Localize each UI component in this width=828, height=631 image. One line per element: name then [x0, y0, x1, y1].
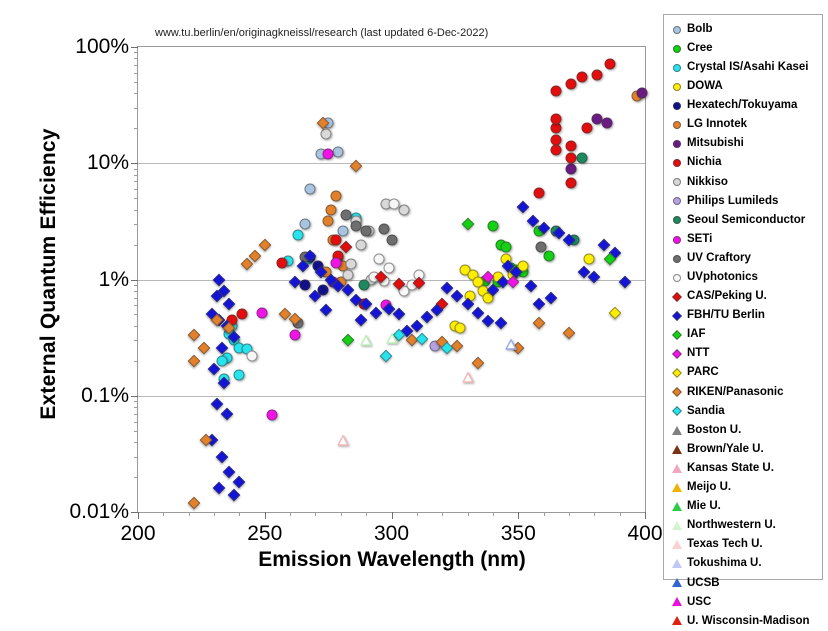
x-axis-tick-label: 350 [501, 522, 536, 546]
legend-label: Tokushima U. [687, 558, 762, 570]
y-axis-tick-label: 0.1% [81, 384, 129, 408]
data-point [330, 191, 341, 202]
y-axis-tick [131, 396, 138, 397]
legend-item-usc[interactable]: USC [670, 593, 819, 612]
legend-item-fbh-tu-berlin[interactable]: FBH/TU Berlin [670, 306, 819, 325]
data-point [581, 123, 592, 134]
y-axis-minor-tick [134, 189, 138, 190]
data-point [187, 329, 200, 342]
data-point [277, 257, 288, 268]
data-point [323, 215, 334, 226]
legend-item-brown-yale-u[interactable]: Brown/Yale U. [670, 440, 819, 459]
data-point [441, 281, 454, 294]
data-point [223, 297, 236, 310]
legend-item-crystal-is-asahi-kasei[interactable]: Crystal IS/Asahi Kasei [670, 58, 819, 77]
x-axis-tick-label: 300 [374, 522, 409, 546]
data-point [588, 271, 601, 284]
x-axis-tick-label: 200 [120, 522, 155, 546]
data-point [386, 331, 397, 349]
legend-label: USC [687, 597, 711, 609]
plot-area: 0.01%0.1%1%10%100%200250300350400 [137, 46, 646, 513]
data-point [536, 242, 547, 253]
data-point [210, 398, 223, 411]
y-axis-tick [131, 47, 138, 48]
data-point [461, 218, 474, 231]
data-point [591, 69, 602, 80]
data-point [343, 269, 354, 280]
legend-label: UCSB [687, 578, 720, 590]
legend-item-ucsb[interactable]: UCSB [670, 574, 819, 593]
data-point [378, 224, 389, 235]
data-point [300, 279, 311, 290]
legend-item-iaf[interactable]: IAF [670, 326, 819, 345]
y-axis-minor-tick [134, 477, 138, 478]
legend-marker-circle-icon [670, 214, 683, 227]
legend-item-texas-tech-u[interactable]: Texas Tech U. [670, 536, 819, 555]
legend-item-riken-panasonic[interactable]: RIKEN/Panasonic [670, 383, 819, 402]
x-axis-minor-tick [544, 512, 545, 516]
legend-marker-diamond-icon [670, 367, 683, 380]
x-axis-minor-tick [189, 512, 190, 516]
legend-label: U. Wisconsin-Madison [687, 616, 810, 628]
source-annotation: www.tu.berlin/en/originagkneissl/researc… [155, 27, 488, 39]
x-axis-tick [138, 512, 139, 519]
y-axis-minor-tick [134, 291, 138, 292]
data-point [566, 79, 577, 90]
data-point [241, 258, 254, 271]
data-point [421, 310, 434, 323]
x-axis-minor-tick [239, 512, 240, 516]
data-point [300, 219, 311, 230]
legend-marker-circle-icon [670, 271, 683, 284]
legend-item-meijo-u[interactable]: Meijo U. [670, 478, 819, 497]
legend-item-nikkiso[interactable]: Nikkiso [670, 173, 819, 192]
legend-label: Philips Lumileds [687, 196, 778, 208]
legend-marker-triangle-open-icon [670, 519, 683, 532]
y-axis-minor-tick [134, 245, 138, 246]
data-point [451, 339, 464, 352]
data-point [566, 177, 577, 188]
x-axis-minor-tick [341, 512, 342, 516]
y-axis-minor-tick [134, 305, 138, 306]
x-axis-minor-tick [366, 512, 367, 516]
data-point [598, 238, 611, 251]
y-axis-minor-tick [134, 361, 138, 362]
y-axis-minor-tick [134, 442, 138, 443]
legend-marker-triangle-icon [670, 615, 683, 628]
legend-item-kansas-state-u[interactable]: Kansas State U. [670, 459, 819, 478]
legend-item-cree[interactable]: Cree [670, 39, 819, 58]
data-point [416, 332, 429, 345]
legend-label: Brown/Yale U. [687, 444, 764, 456]
y-axis-minor-tick [134, 401, 138, 402]
y-axis-minor-tick [134, 340, 138, 341]
legend-label: IAF [687, 329, 706, 341]
data-point [608, 306, 621, 319]
data-point [471, 306, 484, 319]
legend-item-boston-u[interactable]: Boston U. [670, 421, 819, 440]
legend-label: Cree [687, 43, 713, 55]
legend-item-northwestern-u[interactable]: Northwestern U. [670, 516, 819, 535]
data-point [258, 238, 271, 251]
legend-label: PARC [687, 367, 719, 379]
legend-item-ntt[interactable]: NTT [670, 345, 819, 364]
data-point [319, 303, 332, 316]
gridline [138, 396, 645, 397]
data-point [358, 279, 369, 290]
data-point [551, 85, 562, 96]
data-point [576, 153, 587, 164]
x-axis-tick [265, 512, 266, 519]
y-axis-tick-label: 10% [87, 151, 129, 175]
data-point [305, 184, 316, 195]
data-point [330, 234, 341, 245]
y-axis-minor-tick [134, 457, 138, 458]
y-axis-minor-tick [134, 298, 138, 299]
legend-marker-circle-icon [670, 80, 683, 93]
y-axis-minor-tick [134, 198, 138, 199]
legend-marker-triangle-open-icon [670, 539, 683, 552]
y-axis-minor-tick [134, 431, 138, 432]
y-axis-tick-label: 0.01% [69, 500, 129, 524]
legend: BolbCreeCrystal IS/Asahi KaseiDOWAHexate… [663, 14, 823, 580]
data-point [356, 239, 367, 250]
legend-marker-diamond-icon [670, 405, 683, 418]
y-axis-minor-tick [134, 93, 138, 94]
data-point [500, 242, 511, 253]
data-point [584, 254, 595, 265]
x-axis-minor-tick [493, 512, 494, 516]
x-axis-tick-label: 400 [627, 522, 662, 546]
data-point [292, 230, 303, 241]
y-axis-tick-label: 100% [75, 35, 129, 59]
data-point [533, 188, 544, 199]
legend-marker-diamond-icon [670, 309, 683, 322]
legend-item-nichia[interactable]: Nichia [670, 154, 819, 173]
y-axis-minor-tick [134, 73, 138, 74]
data-point [389, 198, 400, 209]
x-axis-minor-tick [620, 512, 621, 516]
x-axis-minor-tick [468, 512, 469, 516]
data-point [399, 204, 410, 215]
y-axis-minor-tick [134, 422, 138, 423]
data-point [451, 290, 464, 303]
data-point [373, 254, 384, 265]
x-axis-minor-tick [315, 512, 316, 516]
legend-item-sandia[interactable]: Sandia [670, 402, 819, 421]
data-point [350, 159, 363, 172]
y-axis-minor-tick [134, 175, 138, 176]
data-point [234, 370, 245, 381]
legend-item-dowa[interactable]: DOWA [670, 77, 819, 96]
legend-label: Northwestern U. [687, 520, 776, 532]
data-point [551, 145, 562, 156]
y-axis-minor-tick [134, 128, 138, 129]
legend-item-bolb[interactable]: Bolb [670, 20, 819, 39]
legend-label: Texas Tech U. [687, 539, 763, 551]
legend-label: LG Innotek [687, 119, 747, 131]
y-axis-minor-tick [134, 108, 138, 109]
x-axis-tick-label: 250 [247, 522, 282, 546]
y-axis-minor-tick [134, 169, 138, 170]
data-point [543, 250, 554, 261]
legend-label: FBH/TU Berlin [687, 310, 765, 322]
data-point [471, 357, 484, 370]
data-point [330, 257, 341, 268]
y-axis-minor-tick [134, 58, 138, 59]
legend-label: SETi [687, 234, 712, 246]
data-point [267, 410, 278, 421]
data-point [223, 466, 236, 479]
data-point [604, 58, 615, 69]
data-point [393, 308, 406, 321]
legend-marker-circle-icon [670, 157, 683, 170]
legend-item-mitsubishi[interactable]: Mitsubishi [670, 135, 819, 154]
y-axis-minor-tick [134, 65, 138, 66]
legend-label: Kansas State U. [687, 463, 774, 475]
data-point [551, 114, 562, 125]
data-point [525, 280, 538, 293]
legend-item-seoul-semiconductor[interactable]: Seoul Semiconductor [670, 211, 819, 230]
data-point [215, 450, 228, 463]
y-axis-minor-tick [134, 181, 138, 182]
data-point [454, 323, 465, 334]
legend-item-philips-lumileds[interactable]: Philips Lumileds [670, 192, 819, 211]
data-point [213, 482, 226, 495]
data-point [187, 354, 200, 367]
legend-label: Nichia [687, 157, 722, 169]
x-axis-tick [518, 512, 519, 519]
data-point [290, 330, 301, 341]
legend-marker-triangle-icon [670, 577, 683, 590]
data-point [566, 163, 577, 174]
x-axis-minor-tick [214, 512, 215, 516]
x-axis-minor-tick [569, 512, 570, 516]
y-axis-minor-tick [134, 314, 138, 315]
data-point [481, 315, 494, 328]
data-point [355, 313, 368, 326]
legend-label: UVphotonics [687, 272, 758, 284]
x-axis-minor-tick [417, 512, 418, 516]
chart-page: External Quantum Efficiency Emission Wav… [0, 0, 828, 594]
legend-item-uv-craftory[interactable]: UV Craftory [670, 249, 819, 268]
x-axis-tick [645, 512, 646, 519]
legend-label: DOWA [687, 81, 723, 93]
legend-label: RIKEN/Panasonic [687, 387, 784, 399]
data-point [505, 337, 516, 355]
legend-label: UV Craftory [687, 253, 751, 265]
y-axis-minor-tick [134, 52, 138, 53]
legend-marker-circle-icon [670, 23, 683, 36]
y-axis-minor-tick [134, 414, 138, 415]
data-point [618, 276, 631, 289]
data-point [563, 326, 576, 339]
data-point [340, 209, 351, 220]
data-point [228, 489, 241, 502]
legend-label: Nikkiso [687, 177, 728, 189]
data-point [257, 307, 268, 318]
legend-marker-circle-icon [670, 195, 683, 208]
data-point [361, 226, 372, 237]
data-point [462, 370, 473, 388]
data-point [576, 72, 587, 83]
legend-item-parc[interactable]: PARC [670, 364, 819, 383]
legend-marker-triangle-open-icon [670, 558, 683, 571]
legend-label: Crystal IS/Asahi Kasei [687, 62, 808, 74]
legend-item-hexatech-tokuyama[interactable]: Hexatech/Tokuyama [670, 96, 819, 115]
legend-marker-triangle-icon [670, 462, 683, 475]
data-point [323, 149, 334, 160]
data-point [532, 297, 545, 310]
data-point [637, 88, 648, 99]
legend-marker-diamond-icon [670, 386, 683, 399]
legend-marker-circle-icon [670, 176, 683, 189]
data-point [545, 291, 558, 304]
data-point [361, 333, 372, 351]
legend-marker-circle-icon [670, 233, 683, 246]
data-point [342, 334, 355, 347]
y-axis-minor-tick [134, 224, 138, 225]
data-point [333, 146, 344, 157]
data-point [380, 350, 393, 363]
y-axis-minor-tick [134, 326, 138, 327]
legend-marker-circle-icon [670, 119, 683, 132]
data-point [383, 263, 394, 274]
y-axis-tick-label: 1% [99, 268, 129, 292]
legend-label: CAS/Peking U. [687, 291, 767, 303]
data-point [566, 141, 577, 152]
x-axis-minor-tick [594, 512, 595, 516]
legend-marker-circle-icon [670, 61, 683, 74]
legend-label: Bolb [687, 24, 713, 36]
y-axis-title: External Quantum Efficiency [37, 39, 61, 509]
legend-marker-circle-icon [670, 138, 683, 151]
x-axis-minor-tick [290, 512, 291, 516]
y-axis-minor-tick [134, 407, 138, 408]
legend-item-uvphotonics[interactable]: UVphotonics [670, 268, 819, 287]
data-point [551, 134, 562, 145]
legend-label: NTT [687, 348, 709, 360]
data-point [325, 204, 336, 215]
data-point [187, 496, 200, 509]
data-point [338, 433, 349, 451]
y-axis-minor-tick [134, 285, 138, 286]
legend-label: Mitsubishi [687, 138, 744, 150]
data-point [233, 476, 246, 489]
legend-marker-triangle-icon [670, 424, 683, 437]
data-point [198, 341, 211, 354]
legend-label: Mie U. [687, 501, 721, 513]
legend-item-seti[interactable]: SETi [670, 230, 819, 249]
data-point [601, 118, 612, 129]
legend-label: Meijo U. [687, 482, 731, 494]
data-point [487, 220, 498, 231]
legend-item-cas-peking-u[interactable]: CAS/Peking U. [670, 287, 819, 306]
x-axis-tick [392, 512, 393, 519]
data-point [220, 407, 233, 420]
legend-item-tokushima-u[interactable]: Tokushima U. [670, 555, 819, 574]
data-point [532, 317, 545, 330]
legend-marker-diamond-icon [670, 329, 683, 342]
y-axis-tick [131, 512, 138, 513]
x-axis-title: Emission Wavelength (nm) [137, 548, 647, 572]
x-axis-minor-tick [163, 512, 164, 516]
y-axis-tick [131, 280, 138, 281]
legend-marker-diamond-icon [670, 290, 683, 303]
legend-marker-triangle-icon [670, 500, 683, 513]
data-point [517, 201, 530, 214]
data-point [386, 234, 397, 245]
legend-marker-diamond-icon [670, 348, 683, 361]
legend-marker-circle-icon [670, 252, 683, 265]
legend-marker-circle-icon [670, 42, 683, 55]
y-axis-minor-tick [134, 210, 138, 211]
legend-item-lg-innotek[interactable]: LG Innotek [670, 115, 819, 134]
legend-item-mie-u[interactable]: Mie U. [670, 497, 819, 516]
legend-label: Hexatech/Tokuyama [687, 100, 797, 112]
legend-marker-triangle-icon [670, 443, 683, 456]
legend-marker-triangle-icon [670, 596, 683, 609]
legend-label: Sandia [687, 406, 725, 418]
data-point [345, 259, 356, 270]
data-point [247, 350, 258, 361]
data-point [320, 128, 331, 139]
data-point [216, 355, 227, 366]
legend-marker-circle-icon [670, 99, 683, 112]
legend-label: Boston U. [687, 425, 741, 437]
legend-item-u-wisconsin-madison[interactable]: U. Wisconsin-Madison [670, 612, 819, 631]
y-axis-minor-tick [134, 82, 138, 83]
data-point [236, 309, 247, 320]
x-axis-minor-tick [442, 512, 443, 516]
data-point [494, 317, 507, 330]
y-axis-tick [131, 163, 138, 164]
legend-marker-triangle-icon [670, 481, 683, 494]
legend-label: Seoul Semiconductor [687, 215, 805, 227]
